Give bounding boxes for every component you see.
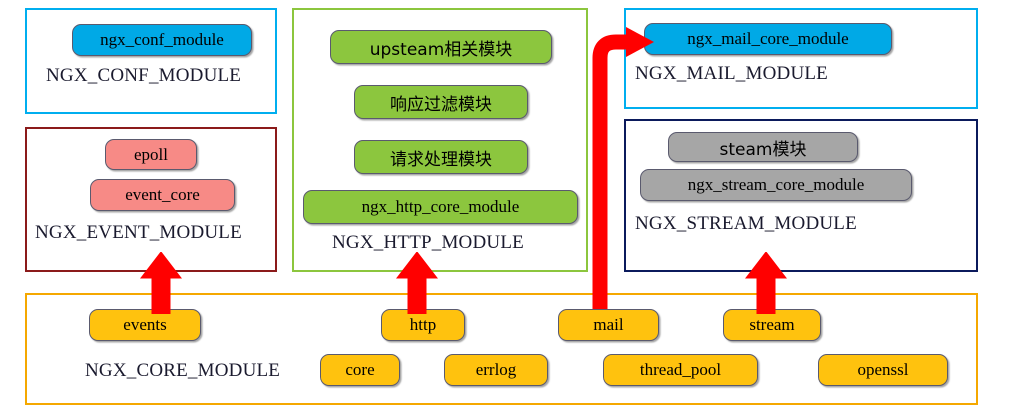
arrow-stream-to-stream-module bbox=[745, 252, 787, 314]
group-ngx-stream-module: steam模块 ngx_stream_core_module NGX_STREA… bbox=[624, 119, 978, 272]
module-event-core[interactable]: event_core bbox=[90, 179, 235, 211]
group-caption-stream: NGX_STREAM_MODULE bbox=[635, 213, 857, 235]
module-response-filter[interactable]: 响应过滤模块 bbox=[354, 85, 528, 119]
group-caption-core: NGX_CORE_MODULE bbox=[85, 360, 280, 382]
module-ngx-conf-module[interactable]: ngx_conf_module bbox=[72, 24, 252, 56]
module-stream-modules[interactable]: steam模块 bbox=[668, 132, 858, 162]
module-ngx-http-core-module[interactable]: ngx_http_core_module bbox=[303, 190, 578, 224]
module-errlog[interactable]: errlog bbox=[444, 354, 548, 386]
module-epoll[interactable]: epoll bbox=[105, 139, 197, 170]
module-request-handler[interactable]: 请求处理模块 bbox=[354, 140, 528, 174]
diagram-canvas: ngx_conf_module NGX_CONF_MODULE epoll ev… bbox=[0, 0, 1014, 418]
arrow-http-to-http-module bbox=[396, 252, 438, 314]
group-ngx-event-module: epoll event_core NGX_EVENT_MODULE bbox=[25, 127, 277, 272]
module-thread-pool[interactable]: thread_pool bbox=[603, 354, 758, 386]
module-ngx-mail-core-module[interactable]: ngx_mail_core_module bbox=[644, 23, 892, 55]
arrow-mail-to-mail-module bbox=[592, 24, 656, 309]
group-ngx-conf-module: ngx_conf_module NGX_CONF_MODULE bbox=[25, 8, 277, 114]
group-caption-http: NGX_HTTP_MODULE bbox=[332, 232, 524, 254]
module-upstream-related[interactable]: upsteam相关模块 bbox=[330, 30, 552, 64]
group-ngx-http-module: upsteam相关模块 响应过滤模块 请求处理模块 ngx_http_core_… bbox=[292, 8, 588, 272]
group-caption-event: NGX_EVENT_MODULE bbox=[35, 222, 242, 244]
group-caption-conf: NGX_CONF_MODULE bbox=[46, 65, 241, 87]
module-openssl[interactable]: openssl bbox=[818, 354, 948, 386]
module-core[interactable]: core bbox=[320, 354, 400, 386]
group-ngx-mail-module: ngx_mail_core_module NGX_MAIL_MODULE bbox=[624, 8, 978, 109]
module-mail[interactable]: mail bbox=[558, 309, 659, 341]
module-ngx-stream-core-module[interactable]: ngx_stream_core_module bbox=[640, 169, 912, 201]
arrow-events-to-event-module bbox=[140, 252, 182, 314]
group-caption-mail: NGX_MAIL_MODULE bbox=[635, 63, 828, 85]
